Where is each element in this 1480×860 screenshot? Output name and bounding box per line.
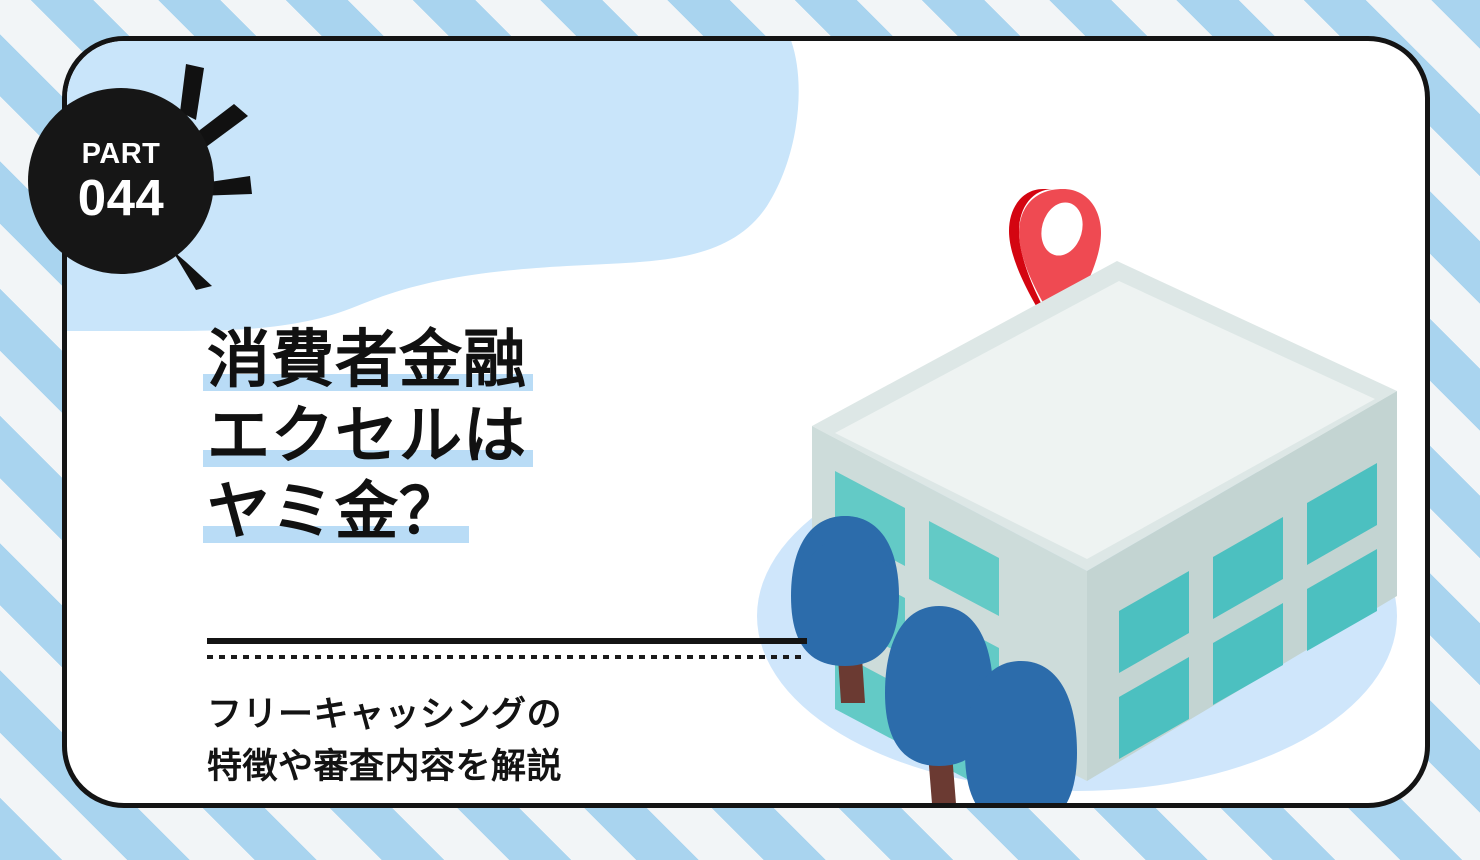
title-text: ヤミ金？ bbox=[207, 477, 463, 547]
page-title: 消費者金融 エクセルは ヤミ金？ bbox=[207, 329, 527, 557]
content-card: 消費者金融 エクセルは ヤミ金？ フリーキャッシングの 特徴や審査内容を解説 bbox=[62, 36, 1430, 808]
divider-solid-line bbox=[207, 638, 807, 644]
divider-dotted-line bbox=[207, 655, 807, 659]
title-text: エクセルは bbox=[207, 401, 527, 471]
title-line-2: エクセルは bbox=[207, 405, 527, 468]
title-line-3: ヤミ金？ bbox=[207, 481, 463, 544]
page-subtitle: フリーキャッシングの 特徴や審査内容を解説 bbox=[207, 689, 562, 793]
subtitle-line-2: 特徴や審査内容を解説 bbox=[207, 741, 562, 793]
badge-label: PART bbox=[82, 140, 161, 169]
isometric-building-illustration bbox=[757, 141, 1417, 808]
part-badge: PART 044 bbox=[28, 88, 214, 274]
title-text: 消費者金融 bbox=[207, 325, 527, 395]
poster-canvas: 消費者金融 エクセルは ヤミ金？ フリーキャッシングの 特徴や審査内容を解説 bbox=[0, 0, 1480, 860]
divider bbox=[207, 638, 807, 659]
title-line-1: 消費者金融 bbox=[207, 329, 527, 392]
tree-icon bbox=[965, 661, 1077, 808]
subtitle-line-1: フリーキャッシングの bbox=[207, 689, 562, 741]
badge-number: 044 bbox=[78, 172, 165, 223]
